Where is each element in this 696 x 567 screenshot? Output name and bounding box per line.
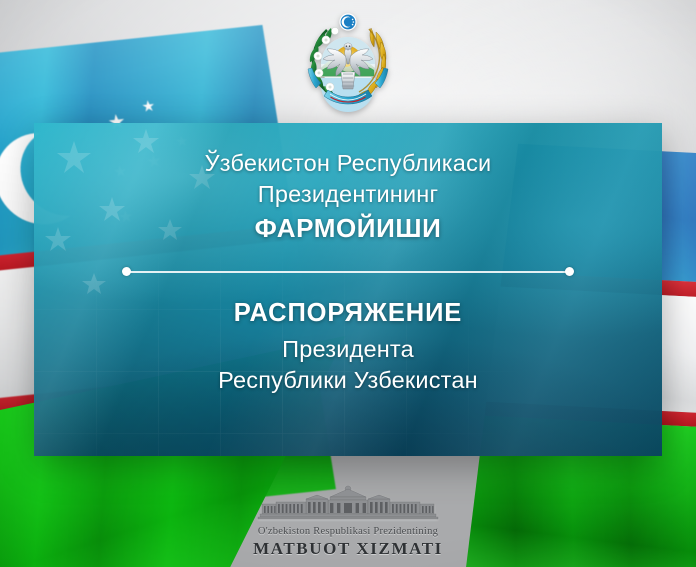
russian-line-3: Республики Узбекистан (34, 365, 662, 396)
poster-canvas: ★ ★ ★ ★ ★ ★ (0, 0, 696, 567)
press-service-subtitle: O'zbekiston Respublikasi Prezidentining (0, 525, 696, 538)
uzbek-document-type: ФАРМОЙИШИ (34, 212, 662, 245)
uzbek-line-1: Ўзбекистон Республикаси (34, 148, 662, 179)
uzbekistan-state-emblem-icon (298, 12, 398, 112)
press-service-title: MATBUOT XIZMATI (0, 538, 696, 559)
uzbek-heading-block: Ўзбекистон Республикаси Президентининг Ф… (34, 148, 662, 245)
decree-card: Ўзбекистон Республикаси Президентининг Ф… (34, 123, 662, 456)
horizontal-divider-with-end-dots (122, 267, 574, 277)
russian-heading-block: РАСПОРЯЖЕНИЕ Президента Республики Узбек… (34, 297, 662, 396)
presidential-administration-building-icon (250, 485, 446, 523)
uzbek-line-2: Президентининг (34, 179, 662, 210)
divider-dot-right (565, 267, 574, 276)
russian-line-2: Президента (34, 334, 662, 365)
divider-line (127, 271, 569, 273)
russian-document-type: РАСПОРЯЖЕНИЕ (34, 297, 662, 329)
press-service-lockup: O'zbekiston Respublikasi Prezidentining … (0, 485, 696, 559)
